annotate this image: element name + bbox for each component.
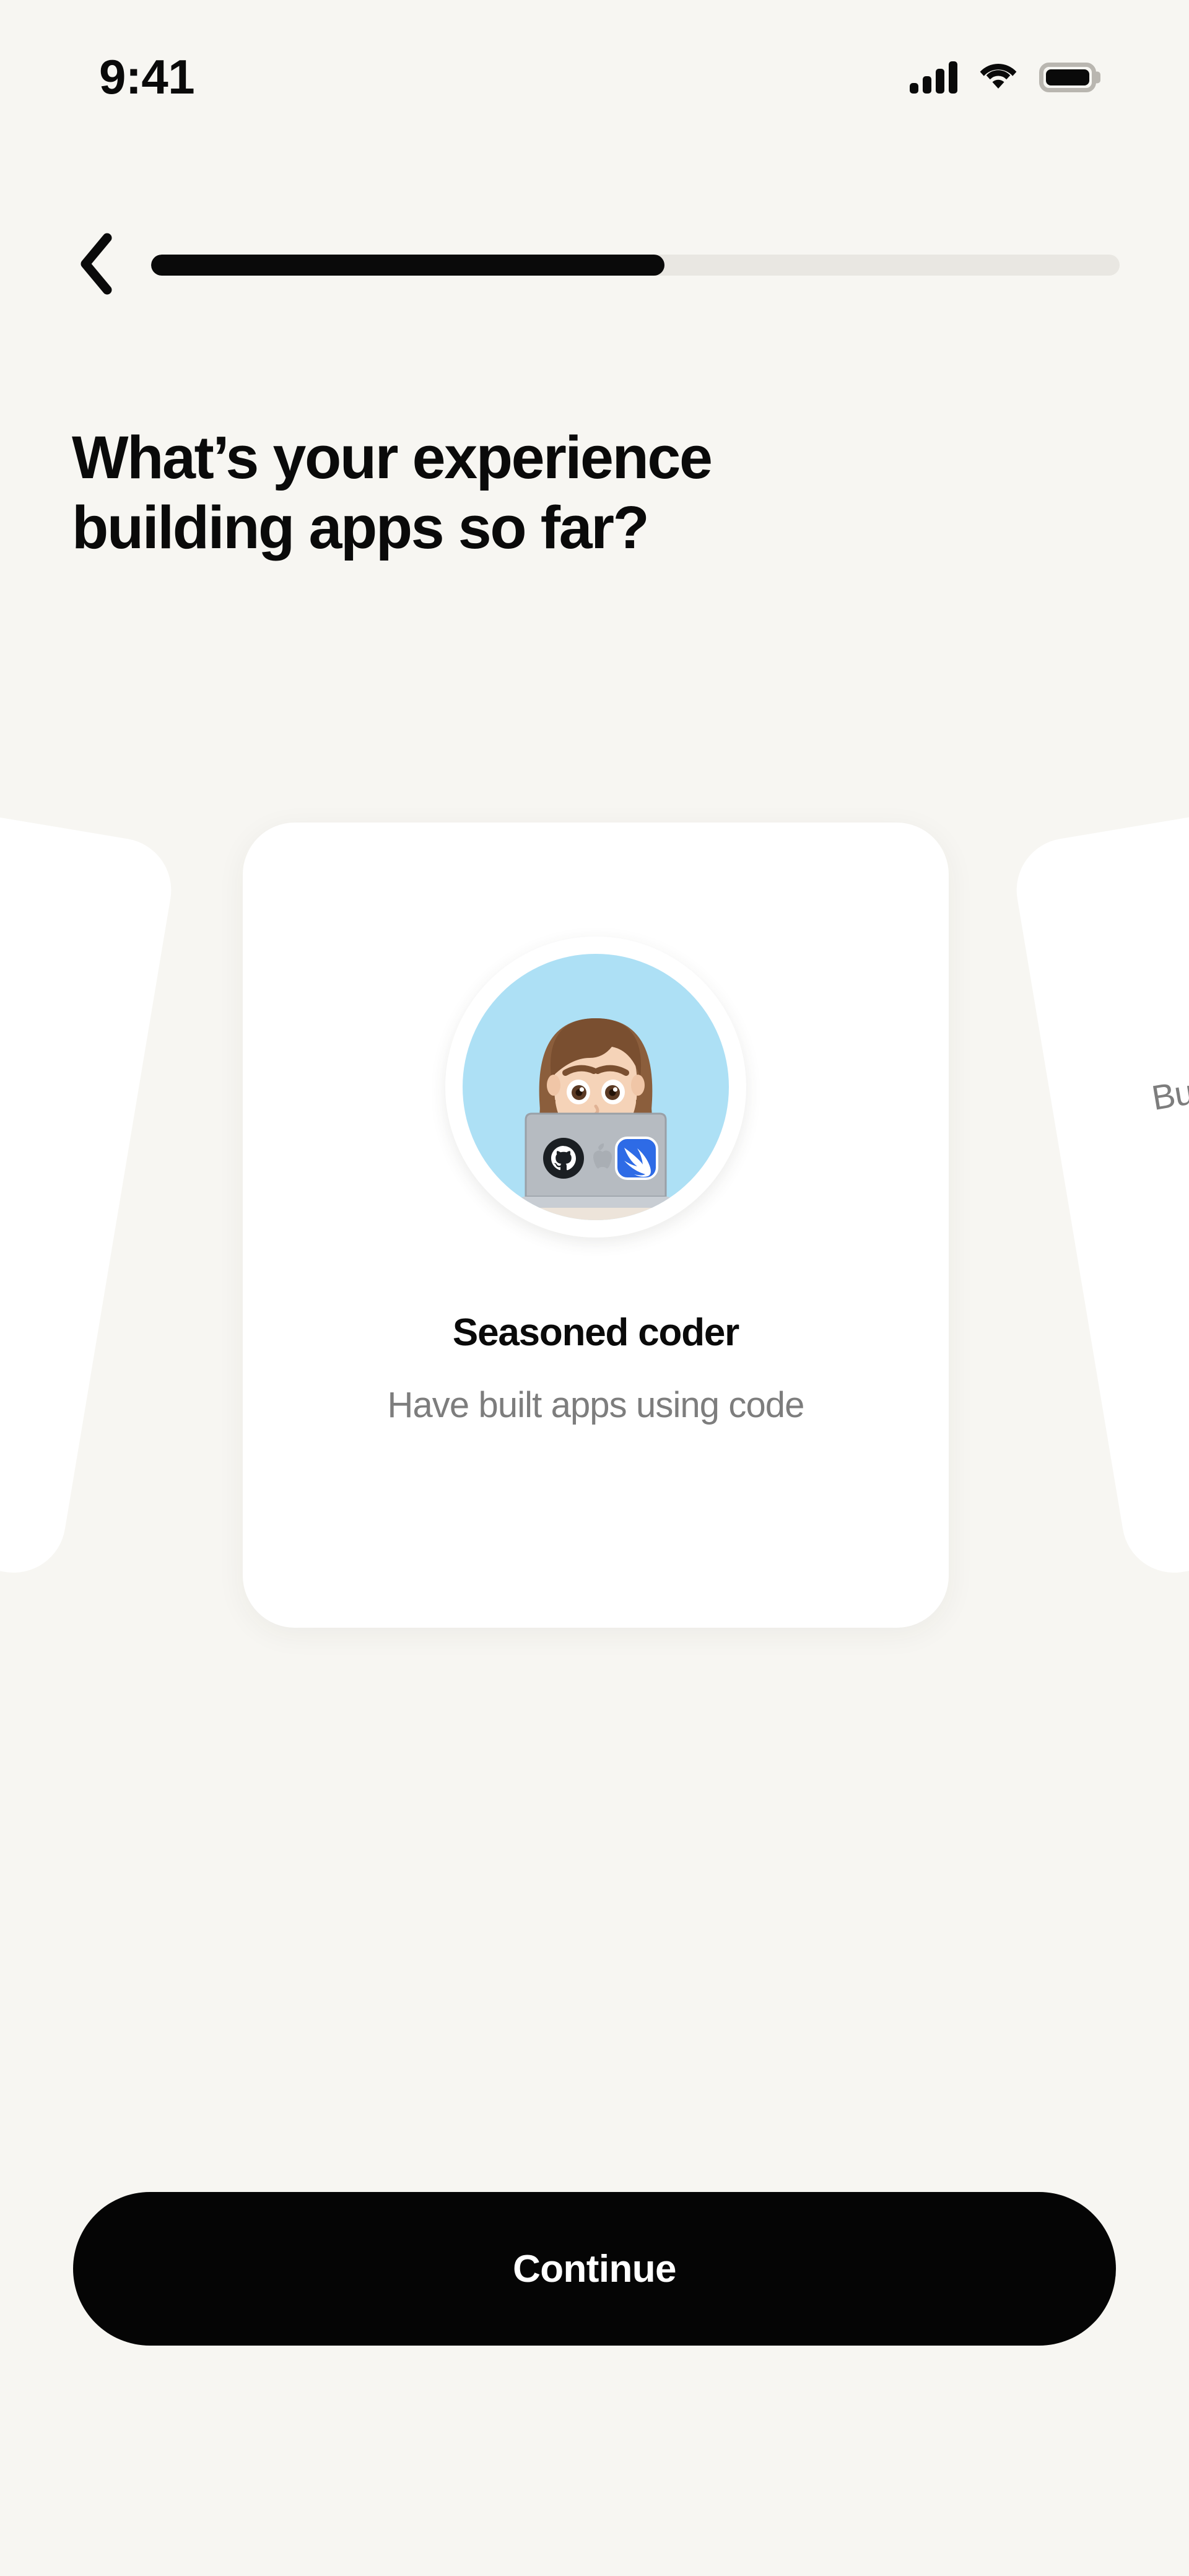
progress-bar-fill <box>151 255 664 276</box>
continue-button[interactable]: Continue <box>73 2192 1116 2346</box>
option-card-right[interactable]: No-code builder Built apps with no-code … <box>1009 744 1189 1581</box>
back-button[interactable] <box>57 228 137 302</box>
option-card-subtitle: Have built apps using code <box>387 1382 804 1430</box>
page-title: What’s your experience building apps so … <box>72 423 939 562</box>
experience-options-carousel[interactable]: Have an idea but haven’t started yet <box>0 805 1189 1635</box>
wifi-icon <box>978 61 1018 94</box>
status-bar-time: 9:41 <box>99 41 194 101</box>
battery-full-icon <box>1039 63 1096 92</box>
onboarding-progress-bar <box>151 255 1120 276</box>
cellular-signal-icon <box>910 61 957 94</box>
avatar <box>445 937 746 1238</box>
option-card-selected[interactable]: Seasoned coder Have built apps using cod… <box>243 823 949 1628</box>
navigation-bar <box>0 228 1189 302</box>
option-card-subtitle: Built apps with no-code tools <box>1149 1006 1189 1121</box>
option-card-title: Seasoned coder <box>453 1311 739 1355</box>
chevron-left-icon <box>78 233 116 298</box>
status-bar: 9:41 <box>0 0 1189 142</box>
status-bar-icons <box>910 49 1096 94</box>
option-card-left[interactable]: Have an idea but haven’t started yet <box>0 744 179 1581</box>
memoji-person-behind-laptop-icon <box>463 954 729 1220</box>
